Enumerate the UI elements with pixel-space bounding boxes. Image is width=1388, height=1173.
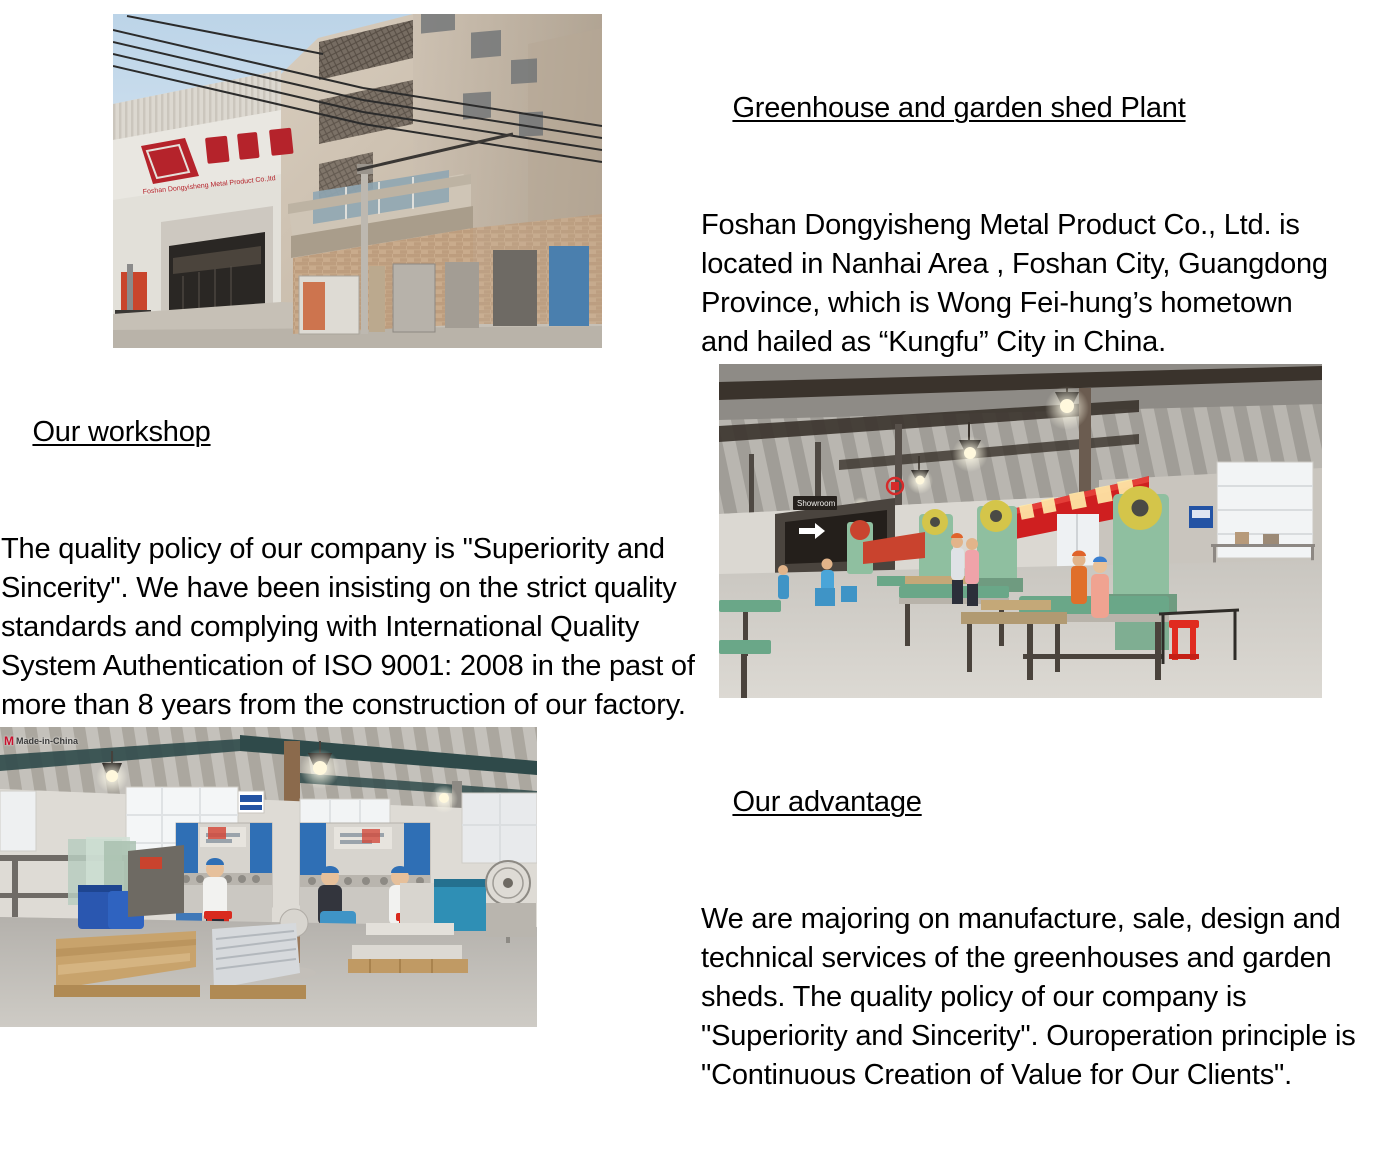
body-our-advantage: We are majoring on manufacture, sale, de…	[701, 900, 1388, 1095]
showroom-sign: Showroom	[793, 496, 837, 510]
heading-our-advantage: Our advantage	[732, 783, 921, 822]
body-greenhouse-plant: Foshan Dongyisheng Metal Product Co., Lt…	[701, 206, 1341, 362]
body-our-workshop: The quality policy of our company is "Su…	[1, 530, 701, 725]
photo-factory-building: Foshan Dongyisheng Metal Product Co.,ltd	[113, 14, 602, 348]
pallet	[348, 945, 468, 973]
factory-building-illustration: Foshan Dongyisheng Metal Product Co.,ltd	[113, 14, 602, 348]
slide-canvas: Foshan Dongyisheng Metal Product Co.,ltd	[0, 0, 1388, 1027]
text-block-our-workshop: Our workshop The quality policy of our c…	[1, 374, 701, 803]
material-stack	[54, 931, 200, 997]
worker	[1091, 557, 1109, 619]
text-block-greenhouse: Greenhouse and garden shed Plant Foshan …	[701, 50, 1341, 440]
worker	[951, 533, 964, 604]
punch-press	[1105, 486, 1177, 650]
heading-greenhouse-plant: Greenhouse and garden shed Plant	[732, 89, 1185, 128]
svg-text:Showroom: Showroom	[797, 499, 836, 508]
heading-our-workshop: Our workshop	[32, 413, 210, 452]
text-block-our-advantage: Our advantage We are majoring on manufac…	[701, 744, 1388, 1173]
pallet	[366, 923, 454, 935]
area-sign-blue	[1189, 506, 1213, 528]
material-stack	[210, 923, 306, 999]
worker	[778, 565, 789, 599]
worker	[1071, 551, 1087, 605]
